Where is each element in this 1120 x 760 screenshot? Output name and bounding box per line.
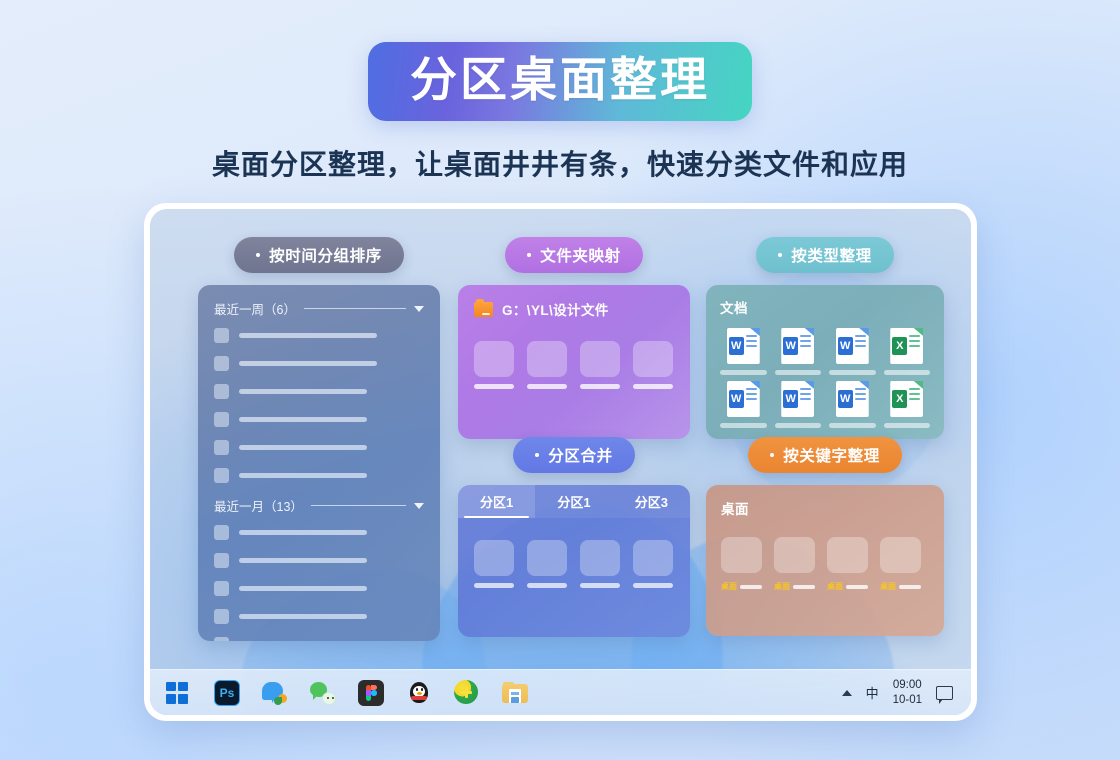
clock[interactable]: 09:00 10-01	[893, 678, 922, 707]
document-item-label	[720, 370, 767, 375]
file-thumb-icon	[214, 412, 229, 427]
keyword-tile-thumb	[721, 537, 762, 573]
word-file-letter: W	[838, 337, 853, 355]
file-tile[interactable]	[527, 540, 567, 588]
keyword-tile-line	[846, 585, 868, 589]
keyword-tile-label: 桌面	[774, 581, 790, 592]
pill-by-type[interactable]: 按类型整理	[756, 237, 894, 273]
word-file-icon: W	[727, 381, 760, 417]
document-item-label	[720, 423, 767, 428]
file-tile-thumb	[580, 540, 620, 576]
keyword-tile[interactable]: 桌面	[880, 537, 921, 592]
list-item[interactable]	[214, 439, 424, 456]
documents-panel-title: 文档	[720, 297, 930, 317]
tab-partition-3[interactable]: 分区3	[613, 485, 690, 518]
file-thumb-icon	[214, 553, 229, 568]
document-item-label	[884, 423, 931, 428]
wechat-icon[interactable]	[310, 681, 336, 705]
file-tile-label	[474, 583, 514, 588]
keyword-tile-label: 桌面	[827, 581, 843, 592]
taskbar-app-list: Ps	[150, 680, 528, 706]
documents-panel: 文档 W W	[706, 285, 944, 439]
keyword-tile-label: 桌面	[721, 581, 737, 592]
figma-icon[interactable]	[358, 680, 384, 706]
tab-partition-1[interactable]: 分区1	[458, 485, 535, 518]
chat-icon[interactable]	[262, 681, 288, 705]
merge-tile-grid	[474, 540, 674, 588]
folder-path-row: G：\YL\设计文件	[474, 299, 674, 319]
file-tile-thumb	[474, 540, 514, 576]
file-name-placeholder	[239, 445, 367, 450]
file-tile-thumb	[633, 341, 673, 377]
file-tile[interactable]	[580, 540, 620, 588]
bullet-dot-icon	[256, 253, 260, 257]
file-tile-thumb	[633, 540, 673, 576]
file-name-placeholder	[239, 530, 367, 535]
qq-icon[interactable]	[406, 680, 432, 706]
merge-section: 分区合并 分区1 分区1 分区3	[458, 437, 690, 637]
bullet-dot-icon	[770, 453, 774, 457]
file-tile-thumb	[527, 341, 567, 377]
keyword-tile-line	[899, 585, 921, 589]
list-item[interactable]	[214, 636, 424, 641]
bullet-dot-icon	[778, 253, 782, 257]
list-item[interactable]	[214, 524, 424, 541]
file-explorer-icon[interactable]	[502, 682, 528, 704]
file-tile-label	[474, 384, 514, 389]
word-file-letter: W	[729, 390, 744, 408]
file-thumb-icon	[214, 384, 229, 399]
word-file-icon: W	[836, 381, 869, 417]
pill-merge-label: 分区合并	[548, 444, 612, 466]
system-tray: 中 09:00 10-01	[842, 678, 971, 707]
file-name-placeholder	[239, 614, 367, 619]
file-name-placeholder	[239, 558, 367, 563]
word-file-icon: W	[836, 328, 869, 364]
word-file-icon: W	[781, 381, 814, 417]
document-item-label	[775, 423, 822, 428]
excel-file-letter: X	[892, 390, 907, 408]
start-button[interactable]	[166, 680, 192, 706]
keyword-tile-thumb	[880, 537, 921, 573]
keyword-tile-thumb	[827, 537, 868, 573]
photoshop-icon-letter: Ps	[220, 687, 235, 699]
file-tile[interactable]	[580, 341, 620, 389]
tab-partition-2[interactable]: 分区1	[535, 485, 612, 518]
document-item[interactable]: W	[829, 381, 876, 428]
group-header-month[interactable]: 最近一月（13）	[214, 496, 424, 515]
document-item[interactable]: W	[775, 381, 822, 428]
folder-tile-grid	[474, 341, 674, 389]
file-tile[interactable]	[474, 540, 514, 588]
group-divider	[311, 505, 406, 506]
word-file-icon: W	[727, 328, 760, 364]
file-tile[interactable]	[474, 341, 514, 389]
time-group-panel: 最近一周（6） 最近一月（13）	[198, 285, 440, 641]
document-item-label	[775, 370, 822, 375]
file-tile-thumb	[527, 540, 567, 576]
list-item[interactable]	[214, 327, 424, 344]
pill-by-keyword-label: 按关键字整理	[783, 444, 880, 466]
keyword-tile-line	[740, 585, 762, 589]
security-360-icon[interactable]	[454, 680, 480, 706]
pill-merge[interactable]: 分区合并	[513, 437, 634, 473]
keyword-tile-grid: 桌面 桌面 桌面	[721, 537, 929, 592]
device-frame: 按时间分组排序 最近一周（6） 最近一月（1	[144, 203, 977, 721]
chevron-down-icon[interactable]	[414, 503, 424, 509]
file-tile[interactable]	[633, 540, 673, 588]
document-item-label	[829, 423, 876, 428]
file-thumb-icon	[214, 468, 229, 483]
by-keyword-section: 按关键字整理 桌面 桌面 桌面	[706, 437, 944, 636]
file-tile-label	[580, 384, 620, 389]
file-tile-label	[633, 384, 673, 389]
excel-file-letter: X	[892, 337, 907, 355]
file-tile[interactable]	[633, 341, 673, 389]
file-tile-label	[527, 384, 567, 389]
keyword-tile[interactable]: 桌面	[827, 537, 868, 592]
list-item[interactable]	[214, 580, 424, 597]
clock-time: 09:00	[893, 678, 922, 692]
keyword-tile[interactable]: 桌面	[774, 537, 815, 592]
pill-time-group[interactable]: 按时间分组排序	[234, 237, 404, 273]
file-name-placeholder	[239, 473, 367, 478]
file-name-placeholder	[239, 586, 367, 591]
pill-by-type-label: 按类型整理	[791, 244, 872, 266]
title-banner: 分区桌面整理	[368, 42, 752, 121]
pill-by-keyword[interactable]: 按关键字整理	[748, 437, 902, 473]
file-name-placeholder	[239, 333, 377, 338]
pill-folder-map-label: 文件夹映射	[540, 244, 621, 266]
file-thumb-icon	[214, 609, 229, 624]
file-thumb-icon	[214, 356, 229, 371]
pill-time-group-label: 按时间分组排序	[269, 244, 382, 266]
group-label-week: 最近一周（6）	[214, 299, 296, 318]
ime-indicator[interactable]: 中	[866, 683, 879, 702]
document-item-label	[829, 370, 876, 375]
word-file-icon: W	[781, 328, 814, 364]
file-name-placeholder	[239, 389, 367, 394]
notification-icon[interactable]	[936, 686, 953, 700]
file-name-placeholder	[239, 417, 367, 422]
excel-file-icon: X	[890, 328, 923, 364]
word-file-letter: W	[838, 390, 853, 408]
document-item[interactable]: W	[720, 328, 767, 375]
list-item[interactable]	[214, 355, 424, 372]
file-tile-thumb	[474, 341, 514, 377]
file-tile[interactable]	[527, 341, 567, 389]
merge-panel-body	[458, 518, 690, 610]
bullet-dot-icon	[527, 253, 531, 257]
file-thumb-icon	[214, 581, 229, 596]
word-file-letter: W	[783, 337, 798, 355]
excel-file-icon: X	[890, 381, 923, 417]
page-header: 分区桌面整理 桌面分区整理，让桌面井井有条，快速分类文件和应用	[0, 0, 1120, 183]
keyword-panel-title: 桌面	[721, 498, 929, 518]
by-type-section: 按类型整理 文档 W	[706, 237, 944, 439]
page-subtitle: 桌面分区整理，让桌面井井有条，快速分类文件和应用	[0, 143, 1120, 183]
keyword-panel: 桌面 桌面 桌面	[706, 485, 944, 636]
folder-icon	[474, 302, 493, 317]
documents-grid: W W	[720, 328, 930, 428]
keyword-tile-thumb	[774, 537, 815, 573]
file-thumb-icon	[214, 637, 229, 641]
windows-start-icon	[166, 682, 188, 704]
word-file-letter: W	[729, 337, 744, 355]
document-item[interactable]: W	[720, 381, 767, 428]
desktop-screen: 按时间分组排序 最近一周（6） 最近一月（1	[150, 209, 971, 715]
bullet-dot-icon	[535, 453, 539, 457]
file-thumb-icon	[214, 525, 229, 540]
word-file-letter: W	[783, 390, 798, 408]
file-thumb-icon	[214, 440, 229, 455]
merge-panel: 分区1 分区1 分区3	[458, 485, 690, 637]
merge-tab-bar: 分区1 分区1 分区3	[458, 485, 690, 518]
list-item[interactable]	[214, 411, 424, 428]
photoshop-icon[interactable]: Ps	[214, 680, 240, 706]
file-tile-label	[527, 583, 567, 588]
document-item[interactable]: W	[829, 328, 876, 375]
file-tile-label	[633, 583, 673, 588]
document-item[interactable]: X	[884, 328, 931, 375]
folder-path-label: G：\YL\设计文件	[502, 299, 609, 319]
taskbar: Ps	[150, 669, 971, 715]
keyword-tile-line	[793, 585, 815, 589]
keyword-tile-label: 桌面	[880, 581, 896, 592]
page-title: 分区桌面整理	[410, 55, 710, 104]
document-item[interactable]: W	[775, 328, 822, 375]
file-thumb-icon	[214, 328, 229, 343]
clock-date: 10-01	[893, 693, 922, 707]
file-tile-thumb	[580, 341, 620, 377]
list-item[interactable]	[214, 383, 424, 400]
group-header-week[interactable]: 最近一周（6）	[214, 299, 424, 318]
group-label-month: 最近一月（13）	[214, 496, 303, 515]
chevron-down-icon[interactable]	[414, 306, 424, 312]
file-list-month	[214, 524, 424, 641]
chevron-up-icon[interactable]	[842, 690, 852, 696]
pill-folder-map[interactable]: 文件夹映射	[505, 237, 643, 273]
group-divider	[304, 308, 406, 309]
list-item[interactable]	[214, 552, 424, 569]
time-group-section: 按时间分组排序 最近一周（6） 最近一月（1	[198, 237, 440, 641]
document-item[interactable]: X	[884, 381, 931, 428]
list-item[interactable]	[214, 467, 424, 484]
file-name-placeholder	[239, 361, 377, 366]
file-list-week	[214, 327, 424, 484]
folder-map-panel: G：\YL\设计文件	[458, 285, 690, 439]
folder-map-section: 文件夹映射 G：\YL\设计文件	[458, 237, 690, 439]
keyword-tile[interactable]: 桌面	[721, 537, 762, 592]
list-item[interactable]	[214, 608, 424, 625]
document-item-label	[884, 370, 931, 375]
file-tile-label	[580, 583, 620, 588]
